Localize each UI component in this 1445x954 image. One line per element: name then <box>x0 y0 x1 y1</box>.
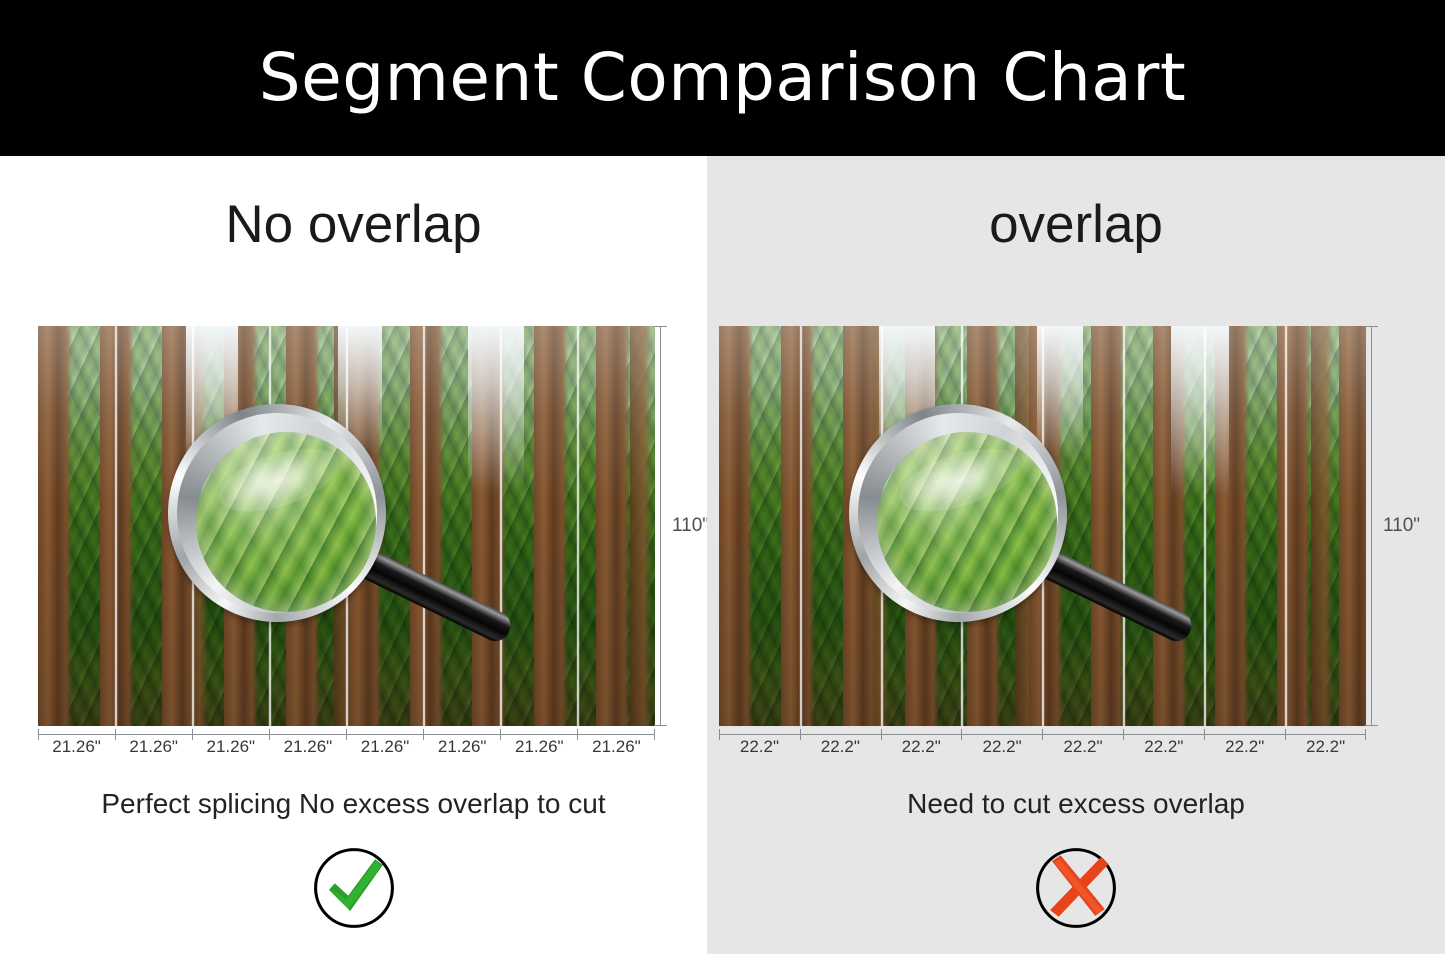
seam-line <box>423 326 425 726</box>
seam-line <box>577 326 579 726</box>
seam-line <box>1123 326 1125 726</box>
height-label-no-overlap: 110" <box>672 515 709 537</box>
segment-label: 22.2" <box>962 737 1043 757</box>
panel-no-overlap: No overlap <box>0 156 707 954</box>
panel-title-no-overlap: No overlap <box>0 194 745 255</box>
figure-overlap: 110" 22.2" 22.2" 22.2" 22.2" 22.2" <box>719 326 1366 726</box>
segment-seams-overlap <box>719 326 1366 726</box>
segment-label: 21.26" <box>501 737 578 757</box>
figure-no-overlap: 110" 21.26" 21.26" 21.26" 21.26" 21. <box>38 326 655 726</box>
result-mark-overlap <box>707 840 1445 936</box>
seam-line <box>269 326 271 726</box>
segment-label: 22.2" <box>1204 737 1285 757</box>
seam-line <box>961 326 963 726</box>
result-mark-no-overlap <box>0 840 745 936</box>
segment-label: 22.2" <box>1043 737 1124 757</box>
segment-label: 21.26" <box>38 737 115 757</box>
height-label-overlap: 110" <box>1383 515 1420 537</box>
seam-line <box>1285 326 1287 726</box>
caption-no-overlap: Perfect splicing No excess overlap to cu… <box>0 788 745 820</box>
caption-overlap: Need to cut excess overlap <box>707 788 1445 820</box>
segment-label: 22.2" <box>800 737 881 757</box>
segment-seams-no-overlap <box>38 326 655 726</box>
segment-labels-no-overlap: 21.26" 21.26" 21.26" 21.26" 21.26" 21.26… <box>38 737 655 757</box>
height-dimension-line-overlap <box>1371 326 1372 726</box>
page-title: Segment Comparison Chart <box>259 45 1187 111</box>
check-mark-icon <box>306 840 402 936</box>
segment-labels-overlap: 22.2" 22.2" 22.2" 22.2" 22.2" 22.2" 22.2… <box>719 737 1366 757</box>
segment-label: 22.2" <box>1285 737 1366 757</box>
segment-label: 21.26" <box>269 737 346 757</box>
segment-label: 21.26" <box>424 737 501 757</box>
segment-dimension-bar-no-overlap: 21.26" 21.26" 21.26" 21.26" 21.26" 21.26… <box>38 734 655 764</box>
segment-label: 22.2" <box>719 737 800 757</box>
panel-overlap: overlap <box>707 156 1445 954</box>
panel-title-overlap: overlap <box>707 194 1445 255</box>
seam-line <box>192 326 194 726</box>
seam-line <box>346 326 348 726</box>
segment-label: 21.26" <box>115 737 192 757</box>
segment-label: 21.26" <box>578 737 655 757</box>
segment-label: 22.2" <box>1123 737 1204 757</box>
segment-dimension-bar-overlap: 22.2" 22.2" 22.2" 22.2" 22.2" 22.2" 22.2… <box>719 734 1366 764</box>
segment-label: 22.2" <box>881 737 962 757</box>
segment-label: 21.26" <box>192 737 269 757</box>
seam-line <box>1042 326 1044 726</box>
seam-line <box>800 326 802 726</box>
seam-line <box>115 326 117 726</box>
seam-line <box>500 326 502 726</box>
seam-line <box>881 326 883 726</box>
comparison-panels: No overlap <box>0 156 1445 954</box>
seam-line <box>1204 326 1206 726</box>
height-dimension-line-no-overlap <box>660 326 661 726</box>
segment-label: 21.26" <box>347 737 424 757</box>
cross-mark-icon <box>1028 840 1124 936</box>
page-header: Segment Comparison Chart <box>0 0 1445 156</box>
